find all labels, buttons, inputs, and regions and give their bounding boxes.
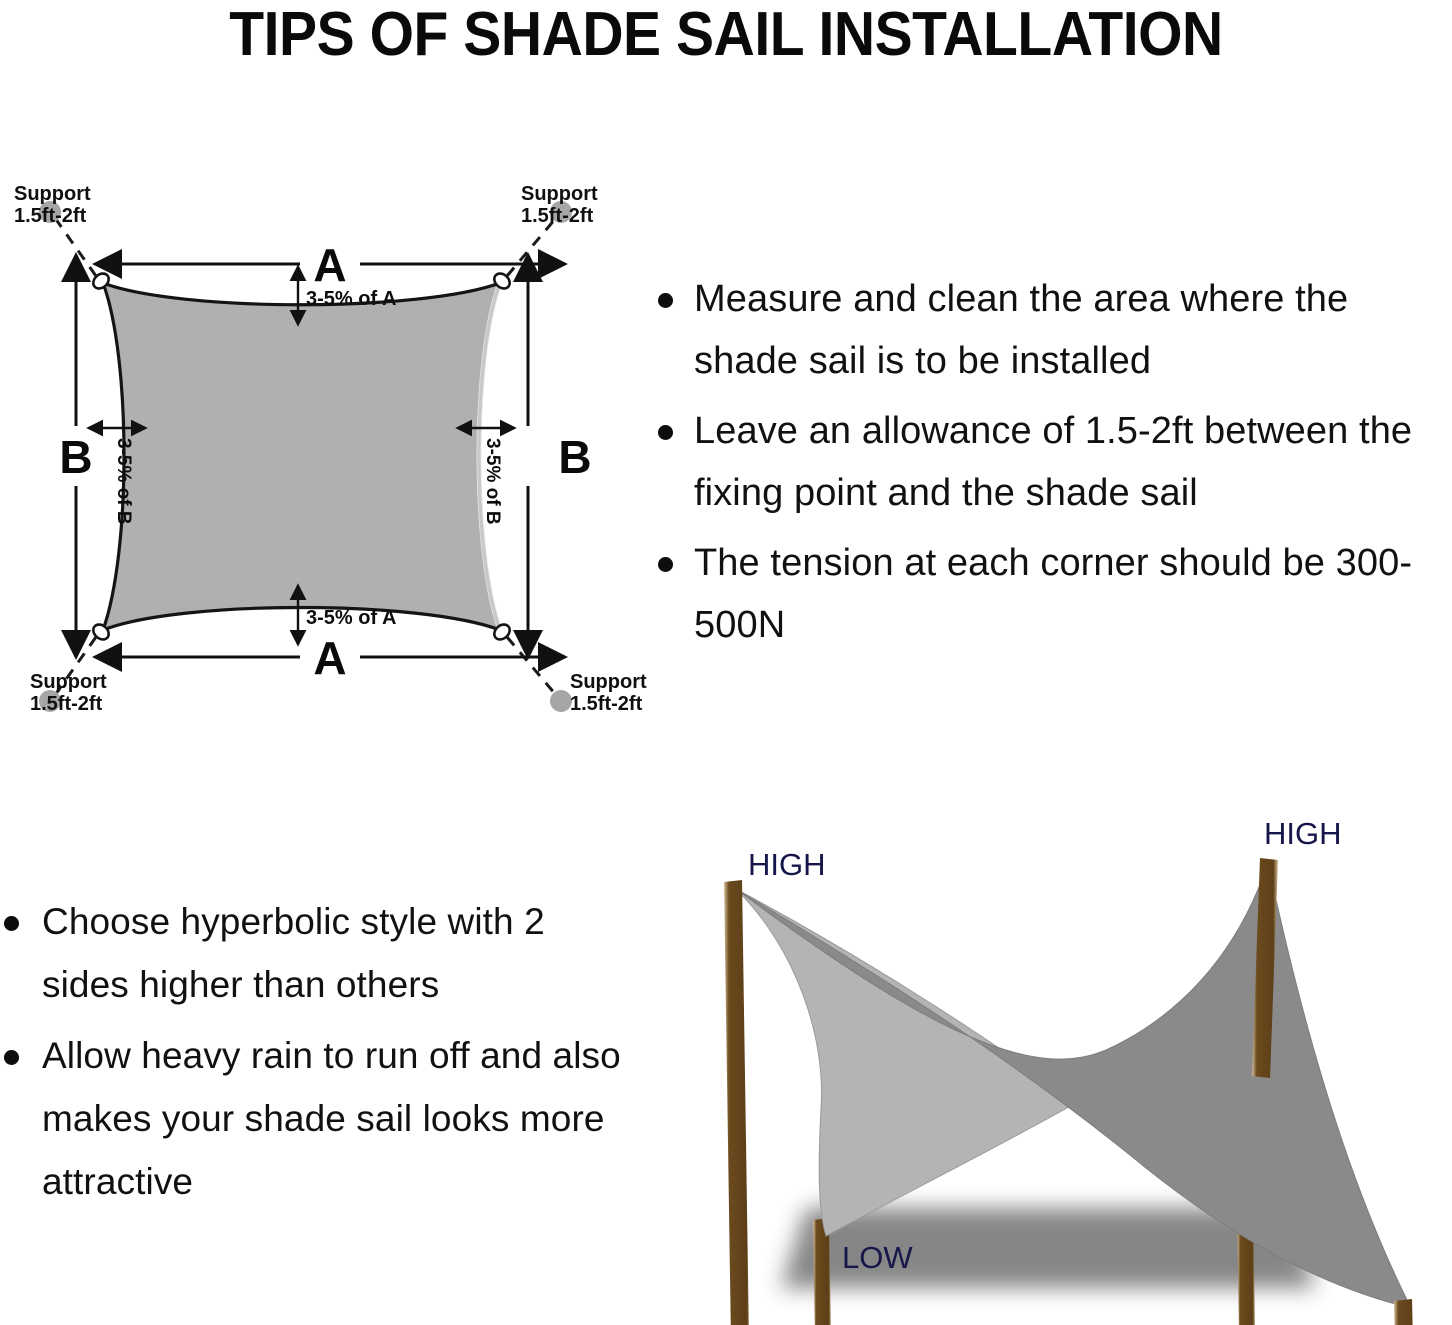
support-label-top-left-line1: Support: [14, 183, 91, 205]
anchor-dot: [550, 690, 572, 712]
curve-depth-label-a-top: 3-5% of A: [306, 288, 396, 310]
dimension-label-a-bottom: A: [313, 632, 346, 684]
list-item: Allow heavy rain to run off and also mak…: [0, 1024, 630, 1213]
curve-depth-b-left: 3-5% of B: [103, 428, 134, 525]
installation-tips-top-list: Measure and clean the area where the sha…: [650, 268, 1452, 664]
dimension-b-right: B: [528, 282, 592, 630]
bullet-dot-icon: [658, 425, 673, 440]
dimension-label-b-left: B: [59, 431, 92, 483]
dimension-b-left: B: [59, 282, 92, 630]
list-item: Choose hyperbolic style with 2 sides hig…: [0, 890, 630, 1016]
bullet-dot-icon: [658, 557, 673, 572]
bullet-dot-icon: [4, 1050, 19, 1065]
dimension-label-b-right: B: [558, 431, 591, 483]
curve-depth-label-b-left: 3-5% of B: [113, 438, 134, 525]
list-item-text: Leave an allowance of 1.5-2ft between th…: [694, 410, 1412, 514]
list-item-text: Choose hyperbolic style with 2 sides hig…: [42, 901, 545, 1005]
hyperbolic-sail-diagram: HIGH HIGH LOW LOW: [676, 788, 1452, 1325]
support-label-top-left-line2: 1.5ft-2ft: [14, 205, 87, 227]
list-item-text: Measure and clean the area where the sha…: [694, 278, 1348, 382]
bullet-dot-icon: [658, 293, 673, 308]
support-label-bottom-left-line1: Support: [30, 671, 107, 693]
support-label-top-right-line1: Support: [521, 183, 598, 205]
curve-depth-label-a-bottom: 3-5% of A: [306, 607, 396, 629]
dimension-label-a-top: A: [313, 239, 346, 291]
infographic-page: TIPS OF SHADE SAIL INSTALLATION: [0, 0, 1452, 1325]
support-label-bottom-right-line2: 1.5ft-2ft: [570, 693, 643, 715]
rectangular-sail-diagram: Support 1.5ft-2ft Support 1.5ft-2ft Supp…: [0, 160, 660, 740]
label-high-right: HIGH: [1264, 816, 1342, 851]
support-label-bottom-left-line2: 1.5ft-2ft: [30, 693, 103, 715]
list-item-text: Allow heavy rain to run off and also mak…: [42, 1035, 621, 1202]
post-left-high: [724, 880, 752, 1325]
post-right-low: [1394, 1299, 1418, 1325]
installation-tips-bottom-list: Choose hyperbolic style with 2 sides hig…: [0, 890, 630, 1221]
support-label-top-right-line2: 1.5ft-2ft: [521, 205, 594, 227]
page-title: TIPS OF SHADE SAIL INSTALLATION: [58, 0, 1394, 68]
curve-depth-label-b-right: 3-5% of B: [482, 438, 503, 525]
list-item: Leave an allowance of 1.5-2ft between th…: [650, 400, 1452, 524]
list-item-text: The tension at each corner should be 300…: [694, 542, 1412, 646]
sail-shape: [103, 283, 500, 630]
label-high-left: HIGH: [748, 847, 826, 882]
support-label-bottom-right-line1: Support: [570, 671, 647, 693]
label-low-left: LOW: [842, 1240, 913, 1275]
dimension-a-top: A: [122, 239, 538, 291]
dimension-a-bottom: A: [122, 632, 538, 684]
list-item: The tension at each corner should be 300…: [650, 532, 1452, 656]
list-item: Measure and clean the area where the sha…: [650, 268, 1452, 392]
bullet-dot-icon: [4, 916, 19, 931]
